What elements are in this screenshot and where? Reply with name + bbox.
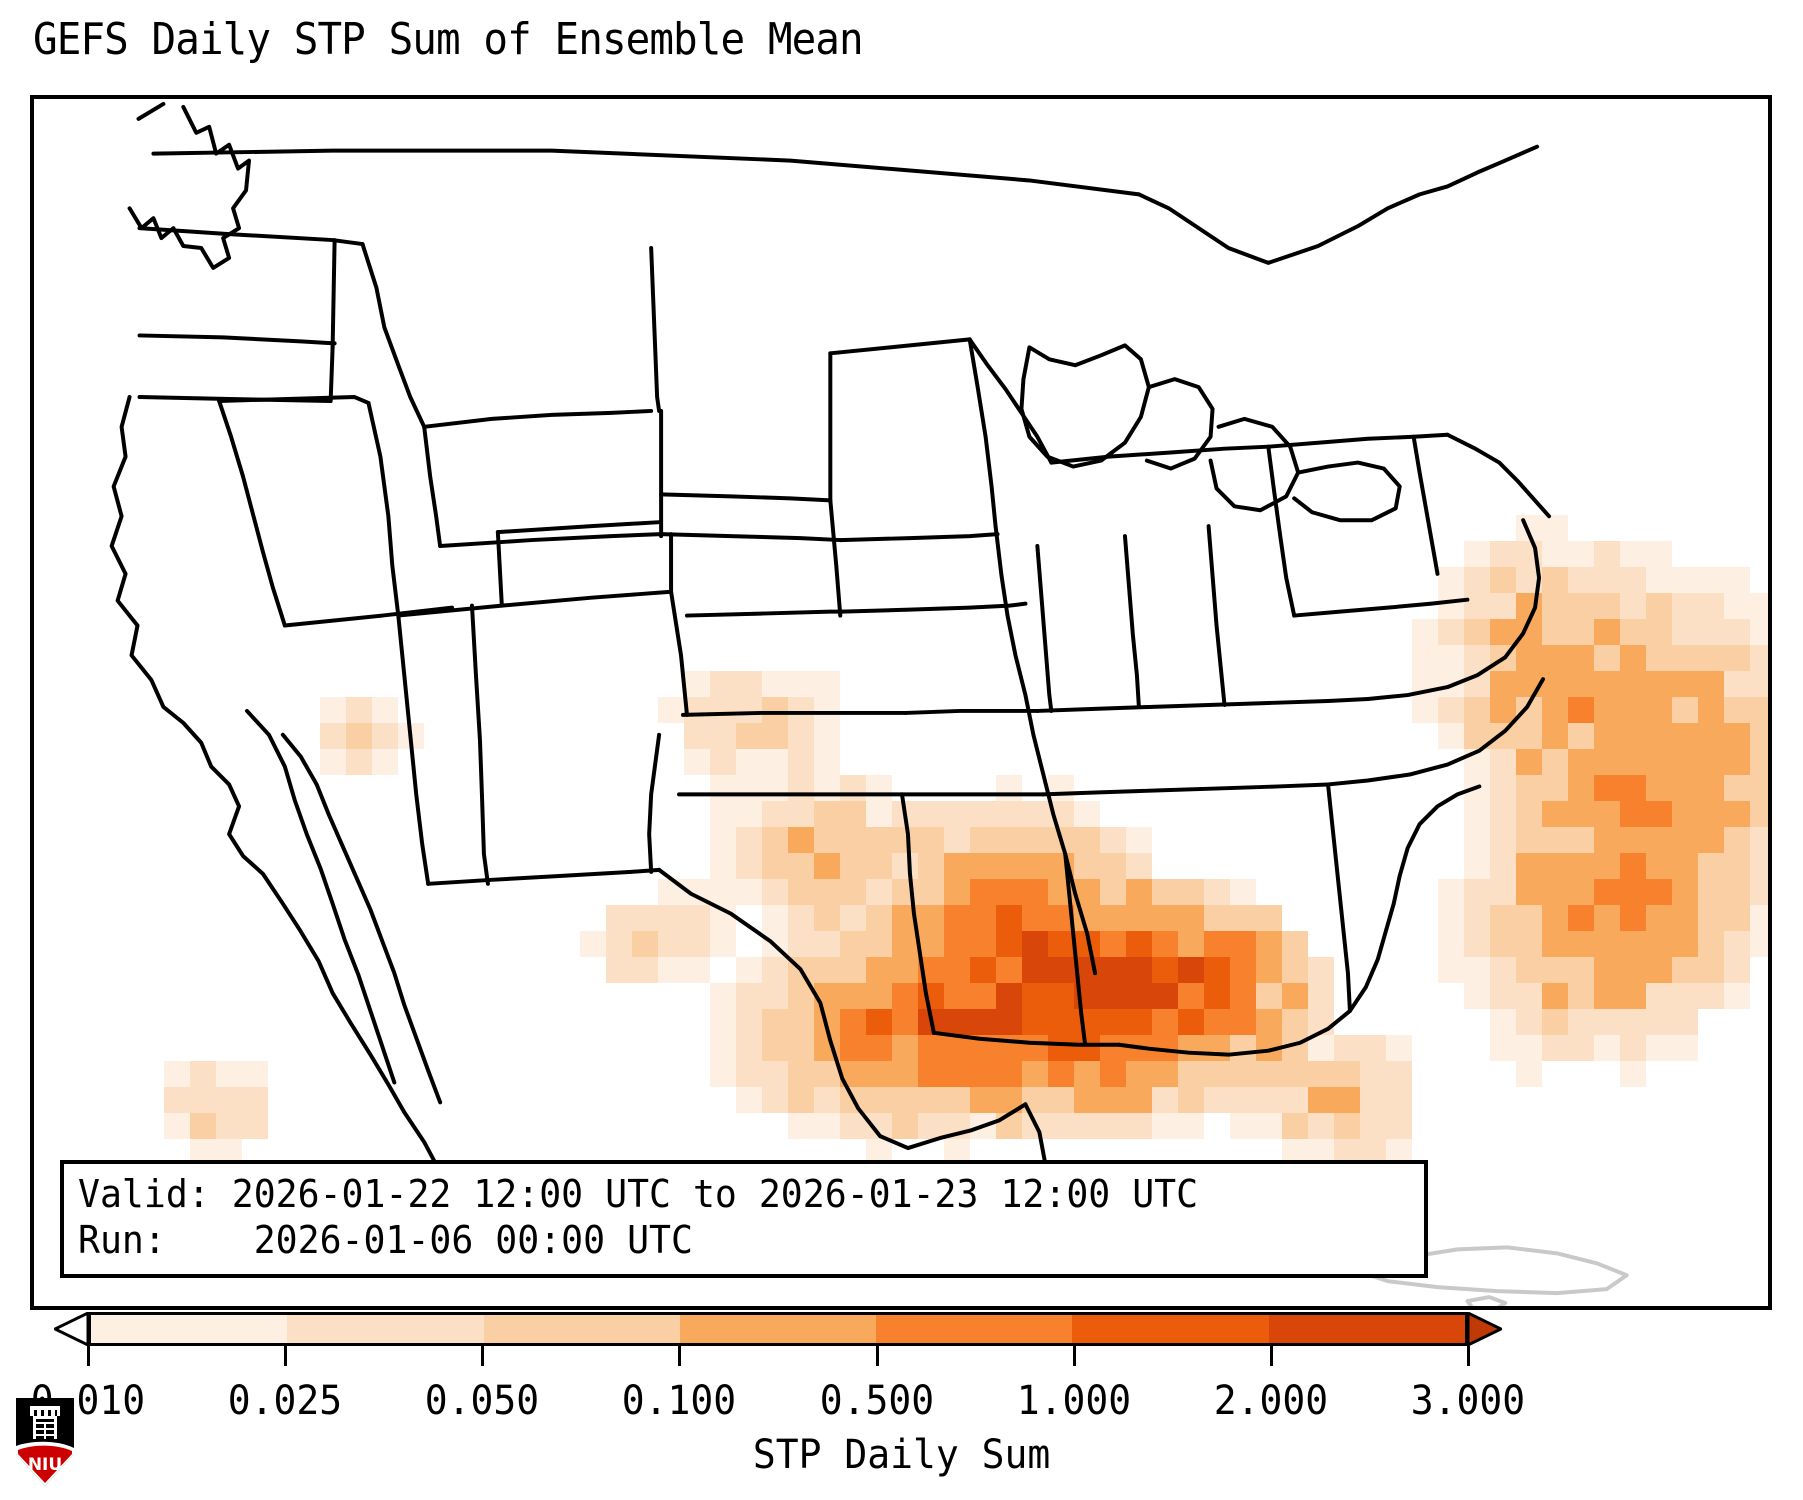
colorbar-tick-label-7: 3.000 bbox=[1411, 1378, 1525, 1424]
colorbar-axis-label: STP Daily Sum bbox=[0, 1432, 1803, 1478]
colorbar-tick-labels: 0.0100.0250.0500.1000.5001.0002.0003.000 bbox=[0, 1378, 1803, 1428]
map-frame bbox=[30, 95, 1772, 1310]
colorbar-tick-1 bbox=[284, 1346, 287, 1366]
colorbar-band-1 bbox=[287, 1315, 483, 1343]
page-title: GEFS Daily STP Sum of Ensemble Mean bbox=[33, 14, 863, 65]
colorbar-tick-label-6: 2.000 bbox=[1214, 1378, 1328, 1424]
colorbar-band-3 bbox=[680, 1315, 876, 1343]
valid-run-info-box: Valid: 2026-01-22 12:00 UTC to 2026-01-2… bbox=[60, 1160, 1428, 1278]
colorbar-tick-label-3: 0.100 bbox=[622, 1378, 736, 1424]
colorbar-tick-label-2: 0.050 bbox=[425, 1378, 539, 1424]
colorbar-tick-6 bbox=[1270, 1346, 1273, 1366]
colorbar-over-arrow-icon bbox=[1468, 1312, 1502, 1346]
colorbar-axis-label-text: STP Daily Sum bbox=[753, 1432, 1050, 1478]
valid-time-line: Valid: 2026-01-22 12:00 UTC to 2026-01-2… bbox=[78, 1172, 1198, 1216]
colorbar-ticks bbox=[88, 1346, 1468, 1368]
colorbar-tick-3 bbox=[678, 1346, 681, 1366]
colorbar-tick-2 bbox=[481, 1346, 484, 1366]
colorbar-bands bbox=[88, 1312, 1468, 1346]
niu-shield-icon: NIU bbox=[14, 1396, 76, 1488]
colorbar-under-arrow-icon bbox=[54, 1312, 88, 1346]
colorbar-tick-0 bbox=[87, 1346, 90, 1366]
colorbar-tick-4 bbox=[876, 1346, 879, 1366]
colorbar[interactable] bbox=[0, 1308, 1803, 1368]
colorbar-tick-label-4: 0.500 bbox=[819, 1378, 933, 1424]
colorbar-band-5 bbox=[1072, 1315, 1268, 1343]
map-outlines bbox=[34, 99, 1768, 1306]
colorbar-tick-7 bbox=[1467, 1346, 1470, 1366]
colorbar-band-0 bbox=[91, 1315, 287, 1343]
colorbar-tick-label-5: 1.000 bbox=[1017, 1378, 1131, 1424]
run-time-line: Run: 2026-01-06 00:00 UTC bbox=[78, 1218, 693, 1262]
colorbar-tick-5 bbox=[1073, 1346, 1076, 1366]
colorbar-band-4 bbox=[876, 1315, 1072, 1343]
colorbar-band-6 bbox=[1269, 1315, 1465, 1343]
colorbar-band-2 bbox=[484, 1315, 680, 1343]
niu-logo-text: NIU bbox=[28, 1455, 62, 1475]
colorbar-tick-label-1: 0.025 bbox=[228, 1378, 342, 1424]
